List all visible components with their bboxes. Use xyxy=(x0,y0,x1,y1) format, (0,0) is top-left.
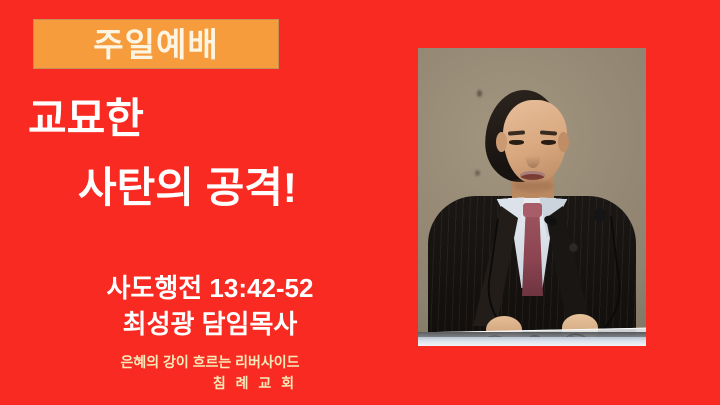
photo-ear-left xyxy=(496,132,507,152)
photo-chin-shadow xyxy=(512,180,554,192)
sermon-title-line-1: 교묘한 xyxy=(28,98,420,141)
scripture-reference: 사도행전 13:42-52 xyxy=(0,275,420,302)
photo-eye-right xyxy=(541,140,556,145)
church-name-line-2: 침 례 교 회 xyxy=(0,376,420,391)
photo-mouth xyxy=(520,171,545,180)
photo-necktie-knot xyxy=(523,203,542,217)
service-type-badge: 주일예배 xyxy=(33,19,279,69)
preacher-photo xyxy=(418,48,646,346)
photo-eye-left xyxy=(509,140,524,145)
photo-microphone-head-right xyxy=(594,208,605,222)
service-type-label: 주일예배 xyxy=(93,28,218,61)
preacher-name: 최성광 담임목사 xyxy=(0,311,420,338)
sermon-title-line-2: 사탄의 공격! xyxy=(78,167,420,210)
photo-stage-floor xyxy=(418,337,646,346)
sermon-title: 교묘한 사탄의 공격! xyxy=(0,98,420,210)
church-name-line-1: 은혜의 강이 흐르는 리버사이드 xyxy=(0,355,420,370)
photo-ear-right xyxy=(558,132,569,152)
sermon-title-slide: 주일예배 교묘한 사탄의 공격! 사도행전 13:42-52 최성광 담임목사 … xyxy=(0,0,720,405)
photo-nose xyxy=(526,148,540,168)
